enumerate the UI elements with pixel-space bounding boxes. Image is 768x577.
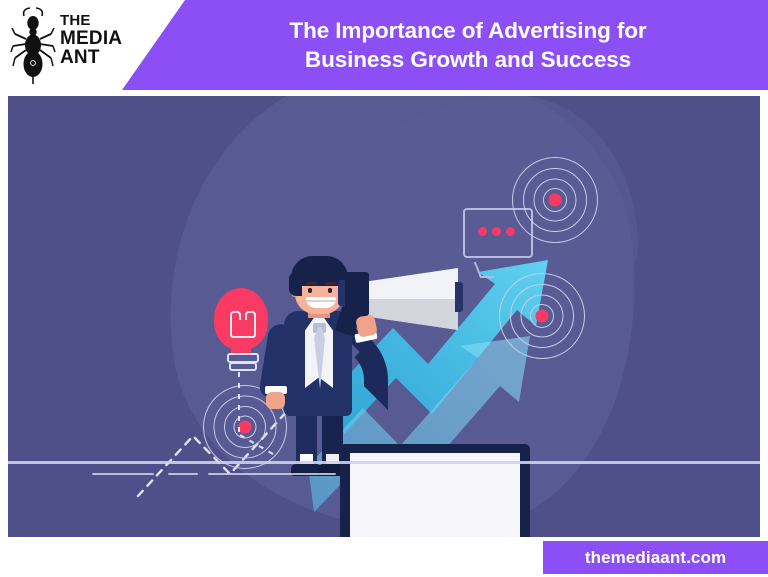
megaphone-cap-right (455, 282, 463, 312)
radar-target-middle-right (500, 274, 584, 358)
hand-right-holding-megaphone (355, 314, 378, 338)
lightbulb-filament (230, 318, 256, 338)
ground-dash-3 (208, 473, 336, 475)
brand-logo[interactable]: THE MEDIA ANT (10, 6, 122, 86)
ground-dash-2 (168, 473, 198, 475)
eye-right (328, 288, 332, 293)
lightbulb-dashed-trail (238, 372, 240, 434)
radar-target-top-right (513, 158, 597, 242)
page-title-line-2: Business Growth and Success (305, 45, 631, 74)
logo-line-media: MEDIA (60, 29, 122, 49)
hand-left (266, 392, 285, 409)
logo-line-ant: ANT (60, 48, 122, 68)
lightbulb-base-ring-2 (229, 362, 257, 371)
speech-bubble-dot-1 (478, 227, 487, 236)
website-badge[interactable]: themediaant.com (543, 541, 768, 574)
monitor-screen[interactable]: MARKETING CAMPAIGN ★ ★ ☆ (350, 453, 520, 537)
page-title-line-1: The Importance of Advertising for (289, 16, 646, 45)
speech-bubble-dot-2 (492, 227, 501, 236)
hero-illustration: MARKETING CAMPAIGN ★ ★ ☆ (8, 96, 760, 537)
ground-dash-1 (92, 473, 154, 475)
page-header: THE MEDIA ANT The Importance of Advertis… (0, 0, 768, 90)
eyebrow-right (325, 282, 336, 286)
ant-logo-icon (10, 6, 56, 86)
smile-line (306, 300, 336, 302)
speech-bubble-tail (475, 253, 477, 263)
sideburn (289, 272, 302, 296)
smile (306, 297, 336, 308)
page-root: THE MEDIA ANT The Importance of Advertis… (0, 0, 768, 577)
website-url: themediaant.com (585, 548, 726, 568)
ground-line (8, 461, 760, 464)
logo-line-the: THE (60, 13, 122, 29)
eye-left (308, 288, 312, 293)
brand-logo-text: THE MEDIA ANT (60, 13, 122, 68)
page-title: The Importance of Advertising for Busine… (185, 4, 751, 86)
